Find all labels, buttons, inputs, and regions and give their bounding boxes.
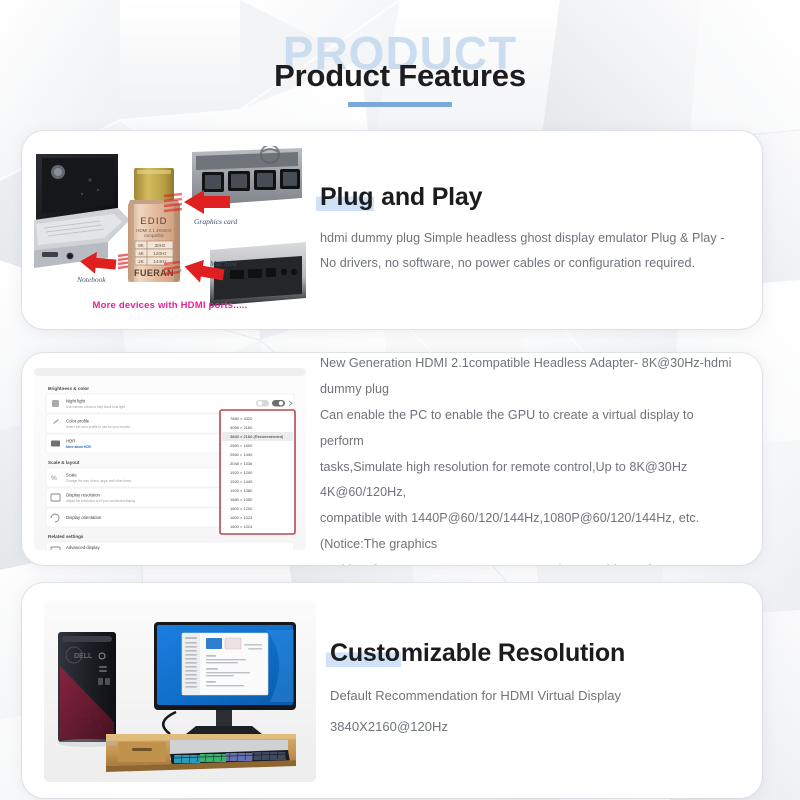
desc-line: Default Recommendation for HDMI Virtual …: [330, 681, 736, 712]
hdmi-plug: EDID HDMI 2.1 4K60Hz compatible 8K 4K 2K: [128, 168, 182, 282]
desktop-tower: DELL: [58, 632, 116, 742]
feature-text-2: Adjustable Resolution New Generation HDM…: [306, 353, 762, 565]
windows-display-settings-screenshot: Brightness & color Night light Use warme…: [34, 368, 306, 550]
svg-text:Scale: Scale: [66, 473, 77, 478]
on-screen-settings-window: [182, 633, 268, 695]
svg-text:Select the color profile to us: Select the color profile to use for your…: [66, 425, 131, 429]
feature-card-plug-and-play: Notebook EDID: [22, 131, 762, 329]
page-header: PRODUCT Product Features: [0, 0, 800, 120]
svg-text:4K: 4K: [138, 251, 145, 256]
svg-text:2560 × 1600: 2560 × 1600: [230, 443, 253, 448]
tower-brand: DELL: [74, 653, 93, 660]
svg-text:1680 × 1050: 1680 × 1050: [230, 497, 253, 502]
desc-line: tasks,Simulate high resolution for remot…: [320, 455, 736, 507]
collage-caption: More devices with HDMI ports.....: [93, 300, 248, 311]
feature-desc-2: New Generation HDMI 2.1compatible Headle…: [320, 353, 736, 565]
desc-line: hdmi dummy plug Simple headless ghost di…: [320, 226, 736, 252]
svg-text:Color profile: Color profile: [66, 419, 90, 424]
desc-line: Can enable the PC to enable the GPU to c…: [320, 403, 736, 455]
plug-spec-table: 8K 4K 2K 30Hz 120Hz 144Hz: [135, 241, 173, 265]
svg-text:Night light: Night light: [66, 399, 86, 404]
svg-text:30Hz: 30Hz: [155, 243, 166, 248]
feature-heading-3: Customizable Resolution: [330, 639, 625, 668]
settings-section-title: Scale & layout: [48, 460, 80, 465]
settings-section-title: Related settings: [48, 534, 84, 539]
svg-text:1920 × 1440: 1920 × 1440: [230, 479, 253, 484]
label-graphics-card: Graphics card: [194, 217, 238, 226]
desc-line: 3840X2160@120Hz: [330, 712, 736, 743]
settings-section-title: Brightness & color: [48, 386, 89, 391]
resolution-dropdown: 7680 × 4320 4096 × 2160 3840 × 2160 (Rec…: [220, 410, 295, 534]
feature-heading-1: Plug and Play: [320, 183, 482, 212]
svg-text:Change the size of text, apps,: Change the size of text, apps, and other…: [66, 479, 131, 483]
wooden-desk-stand: [106, 734, 296, 772]
svg-text:8K: 8K: [138, 243, 145, 248]
desc-line: New Generation HDMI 2.1compatible Headle…: [320, 353, 736, 403]
plug-subtitle-2: compatible: [144, 233, 165, 238]
feature-text-1: Plug and Play hdmi dummy plug Simple hea…: [306, 183, 762, 277]
heading-rest-1: and Play: [374, 183, 482, 211]
settings-row-advanced-display: Advanced display Display adapter, refres…: [46, 542, 294, 550]
hdmi-dummy-plug-collage: Notebook EDID: [34, 146, 306, 314]
svg-text:1600 × 1024: 1600 × 1024: [230, 524, 253, 529]
plug-title: EDID: [140, 216, 168, 227]
svg-text:7680 × 4320: 7680 × 4320: [230, 416, 253, 421]
svg-text:120Hz: 120Hz: [153, 251, 167, 256]
feature-card-adjustable-resolution: Brightness & color Night light Use warme…: [22, 353, 762, 565]
feature-image-1: Notebook EDID: [34, 146, 306, 314]
svg-text:%: %: [51, 475, 57, 482]
svg-text:2K: 2K: [138, 259, 145, 264]
feature-image-3: DELL: [44, 600, 316, 782]
svg-text:4096 × 2160: 4096 × 2160: [230, 425, 253, 430]
heading-highlight-1: Plug: [316, 183, 374, 211]
svg-text:More about HDR: More about HDR: [66, 445, 92, 449]
svg-text:2560 × 1440: 2560 × 1440: [230, 452, 253, 457]
heading-rest-3: mizable Resolution: [401, 639, 625, 667]
desc-line: No drivers, no software, no power cables…: [320, 251, 736, 277]
page-title: Product Features: [0, 58, 800, 94]
feature-desc-3: Default Recommendation for HDMI Virtual …: [330, 681, 736, 742]
svg-text:3840 × 2160 (Recommended): 3840 × 2160 (Recommended): [230, 434, 284, 439]
svg-text:HDR: HDR: [66, 439, 75, 444]
svg-text:1600 × 1024: 1600 × 1024: [230, 515, 253, 520]
label-mac-mini: Mac mini: [209, 260, 237, 268]
svg-text:Display orientation: Display orientation: [66, 515, 102, 520]
feature-image-2: Brightness & color Night light Use warme…: [34, 368, 306, 550]
feature-text-3: Customizable Resolution Default Recommen…: [316, 639, 762, 743]
svg-text:Use warmer colors to help bloc: Use warmer colors to help block blue lig…: [66, 405, 125, 409]
product-features-page: PRODUCT Product Features: [0, 0, 800, 800]
title-underline-accent: [348, 102, 452, 107]
feature-card-customizable-resolution: DELL: [22, 583, 762, 798]
svg-text:Advanced display: Advanced display: [66, 545, 101, 550]
label-notebook: Notebook: [76, 275, 106, 284]
svg-text:Display resolution: Display resolution: [66, 493, 101, 498]
svg-text:Adjust the resolution to fit y: Adjust the resolution to fit your connec…: [66, 499, 136, 503]
desc-line: card interface must support HDMI 2.1 ver…: [320, 558, 736, 565]
heading-highlight-3: Custo: [326, 639, 401, 667]
svg-text:1920 × 1200: 1920 × 1200: [230, 470, 253, 475]
desc-line: compatible with 1440P@60/120/144Hz,1080P…: [320, 506, 736, 558]
svg-text:2048 × 1536: 2048 × 1536: [230, 461, 253, 466]
desktop-pc-photo: DELL: [44, 600, 316, 782]
feature-desc-1: hdmi dummy plug Simple headless ghost di…: [320, 226, 736, 278]
svg-text:1920 × 1080: 1920 × 1080: [230, 488, 253, 493]
svg-text:1600 × 1200: 1600 × 1200: [230, 506, 253, 511]
